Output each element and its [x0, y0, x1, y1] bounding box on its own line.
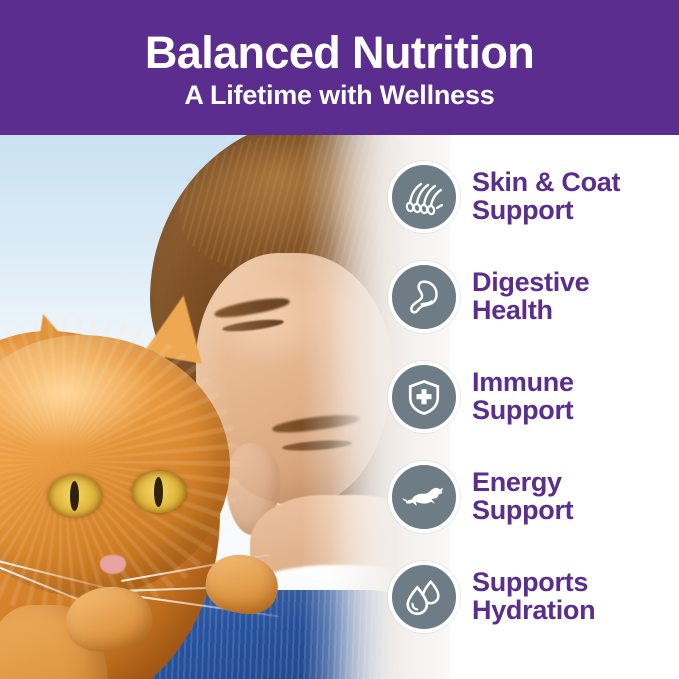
benefit-item-hydration[interactable]: Supports Hydration: [388, 561, 595, 633]
cat-nose: [100, 555, 126, 574]
cat-pupil: [70, 481, 79, 511]
product-benefits-banner: Balanced Nutrition A Lifetime with Welln…: [0, 0, 679, 679]
lifestyle-photo: [0, 135, 432, 679]
benefit-label: Immune Support: [472, 369, 574, 424]
benefit-item-digestive[interactable]: Digestive Health: [388, 261, 589, 333]
stomach-icon: [388, 261, 460, 333]
benefit-label: Supports Hydration: [472, 569, 595, 624]
benefit-item-immune[interactable]: Immune Support: [388, 361, 574, 433]
page-title: Balanced Nutrition: [145, 30, 534, 76]
benefit-label: Digestive Health: [472, 269, 589, 324]
banner-body: Skin & Coat Support Digestive Health: [0, 135, 679, 679]
leaping-cat-icon: [388, 461, 460, 533]
benefit-item-skin-coat[interactable]: Skin & Coat Support: [388, 161, 620, 233]
cat-pupil: [154, 477, 163, 507]
page-subtitle: A Lifetime with Wellness: [184, 81, 494, 109]
benefit-label: Skin & Coat Support: [472, 169, 620, 224]
banner-header: Balanced Nutrition A Lifetime with Welln…: [0, 0, 679, 135]
benefits-list: Skin & Coat Support Digestive Health: [388, 135, 679, 679]
benefit-label: Energy Support: [472, 469, 573, 524]
water-droplets-icon: [388, 561, 460, 633]
hair-follicles-icon: [388, 161, 460, 233]
shield-cross-icon: [388, 361, 460, 433]
benefit-item-energy[interactable]: Energy Support: [388, 461, 573, 533]
